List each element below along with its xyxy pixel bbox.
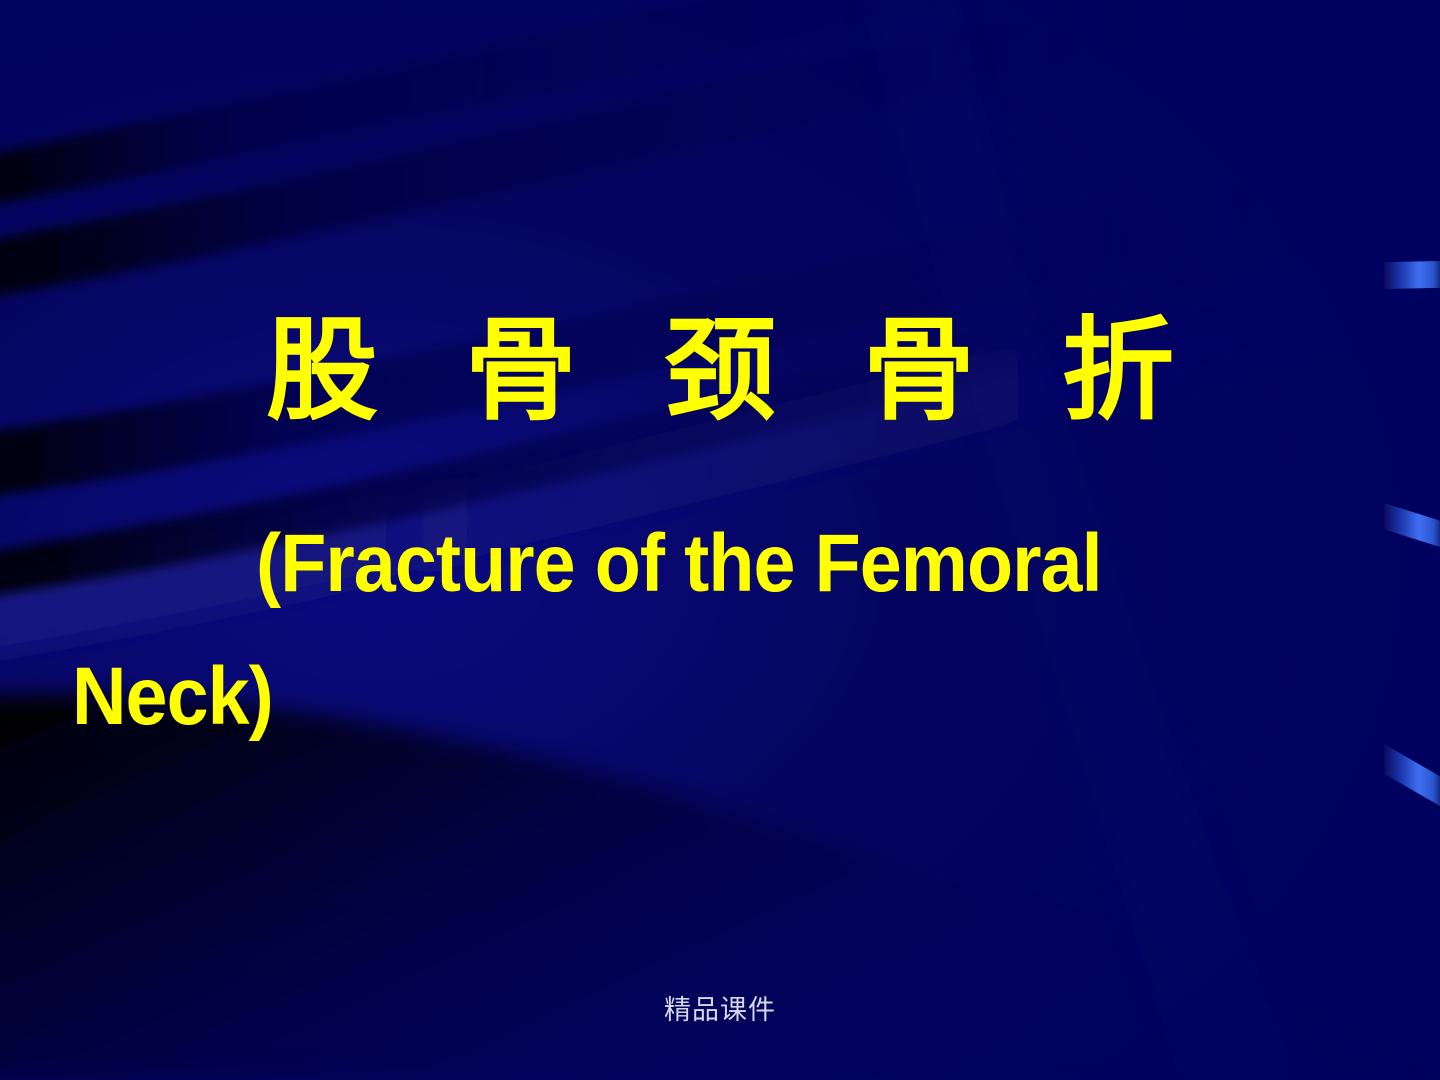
slide-content: 股 骨 颈 骨 折 (Fracture of the Femoral Neck)… bbox=[0, 0, 1440, 1080]
slide-footer-note: 精品课件 bbox=[0, 988, 1440, 1027]
slide-subtitle-english: (Fracture of the Femoral Neck) bbox=[72, 498, 1102, 764]
presentation-slide: 股 骨 颈 骨 折 (Fracture of the Femoral Neck)… bbox=[0, 0, 1440, 1080]
slide-title-chinese: 股 骨 颈 骨 折 bbox=[0, 315, 1440, 427]
